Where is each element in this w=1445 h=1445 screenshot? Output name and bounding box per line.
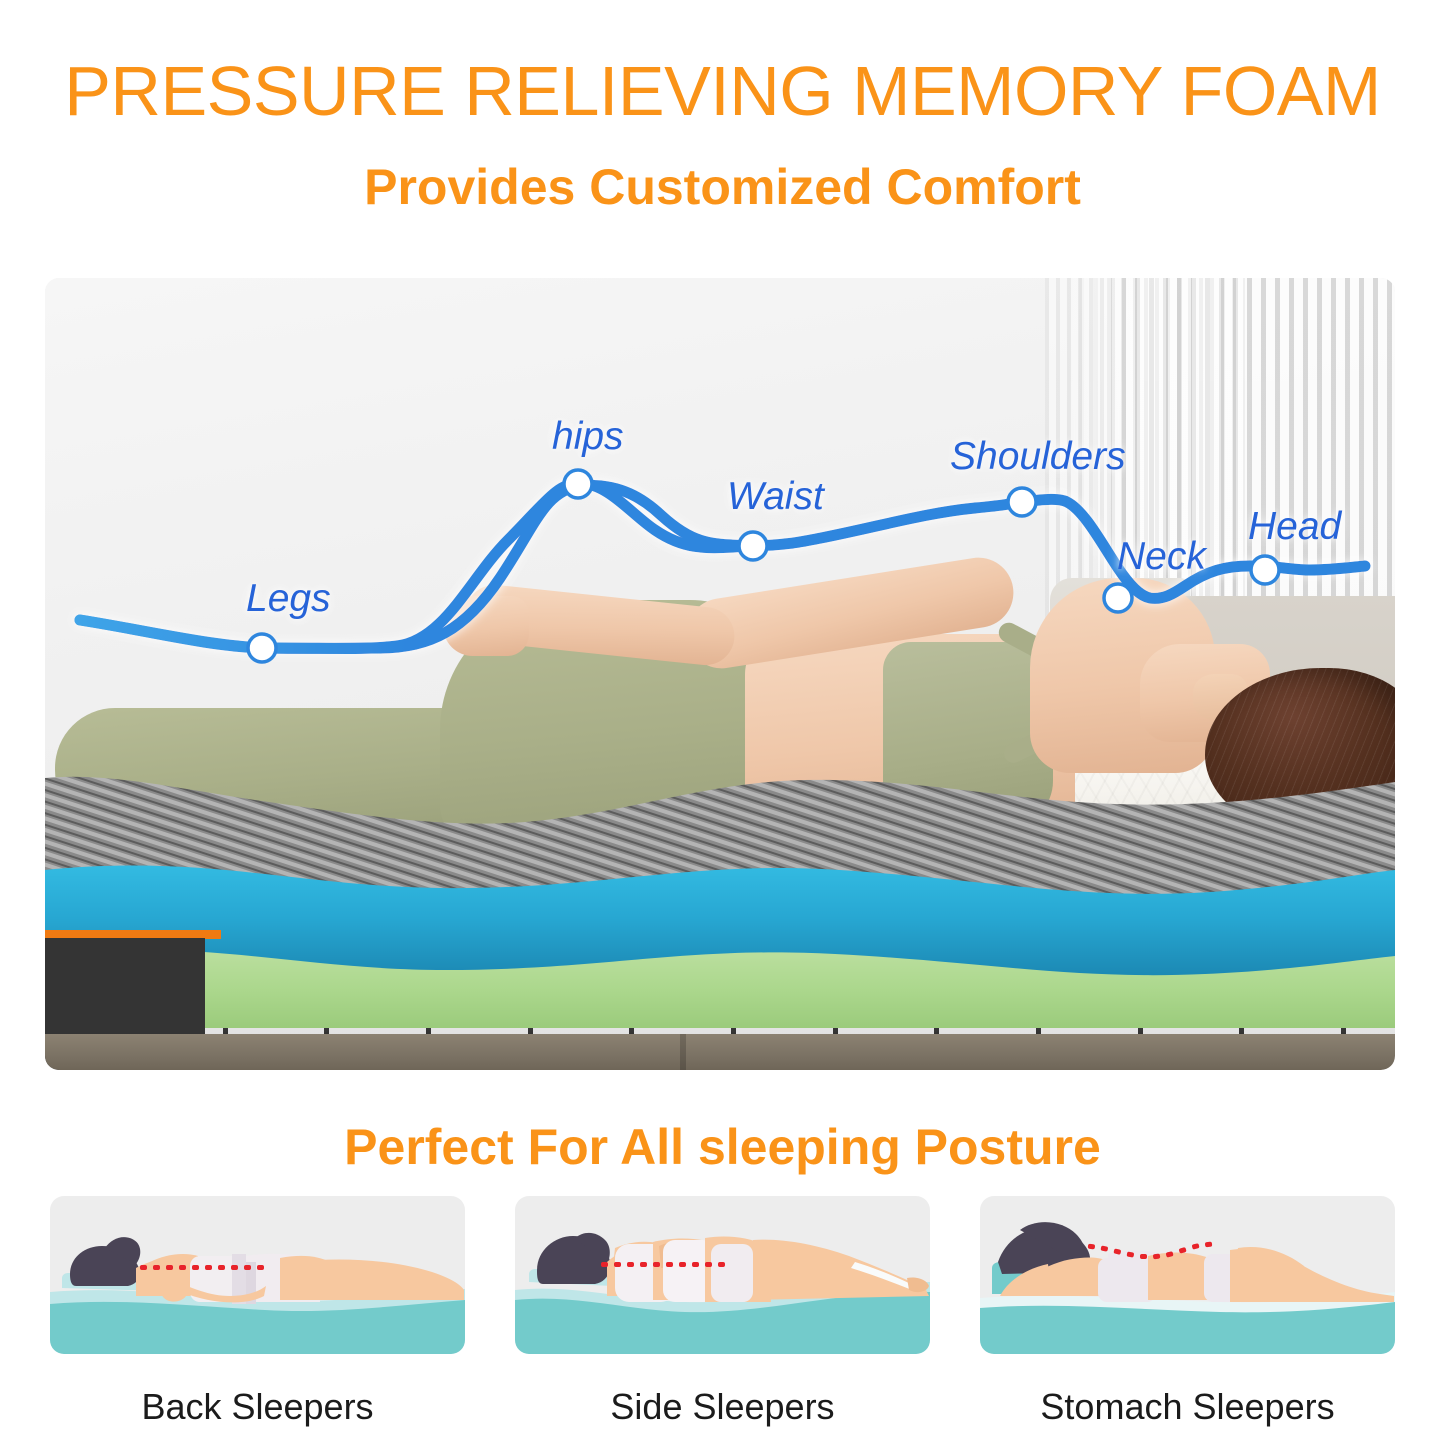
posture-caption-side: Side Sleepers (515, 1386, 930, 1428)
curve-label-shoulders: Shoulders (950, 436, 1126, 478)
back-sleeper-illustration (50, 1196, 465, 1354)
curve-point-legs (248, 634, 276, 662)
posture-caption-stomach: Stomach Sleepers (980, 1386, 1395, 1428)
curve-label-hips: hips (552, 416, 624, 458)
curve-point-head (1251, 556, 1279, 584)
side-sleeper-illustration (515, 1196, 930, 1354)
posture-card-side-sleepers: Side Sleepers (515, 1196, 930, 1436)
curve-label-head: Head (1248, 506, 1341, 548)
posture-card-stomach-sleepers: Stomach Sleepers (980, 1196, 1395, 1436)
curve-point-waist (739, 532, 767, 560)
curve-label-waist: Waist (727, 476, 824, 518)
posture-figure-stomach (980, 1196, 1395, 1354)
curve-point-neck (1104, 584, 1132, 612)
bedroom-scene: Legs hips Waist Shoulders Neck Head (45, 278, 1395, 1070)
stomach-sleeper-illustration (980, 1196, 1395, 1354)
promo-page: PRESSURE RELIEVING MEMORY FOAM Provides … (0, 0, 1445, 1445)
page-headline: PRESSURE RELIEVING MEMORY FOAM (0, 52, 1445, 130)
posture-figure-back (50, 1196, 465, 1354)
posture-figure-side (515, 1196, 930, 1354)
curve-point-hips (564, 470, 592, 498)
sleeping-posture-cards: Back Sleepers (0, 1196, 1445, 1436)
hero-image-panel: Legs hips Waist Shoulders Neck Head (45, 278, 1395, 1070)
curve-label-legs: Legs (246, 578, 331, 620)
curve-point-shoulders (1008, 488, 1036, 516)
curve-label-neck: Neck (1117, 536, 1206, 578)
section-title: Perfect For All sleeping Posture (0, 1118, 1445, 1176)
posture-caption-back: Back Sleepers (50, 1386, 465, 1428)
spinal-alignment-curve (45, 278, 1395, 1070)
posture-card-back-sleepers: Back Sleepers (50, 1196, 465, 1436)
page-subheadline: Provides Customized Comfort (0, 158, 1445, 216)
